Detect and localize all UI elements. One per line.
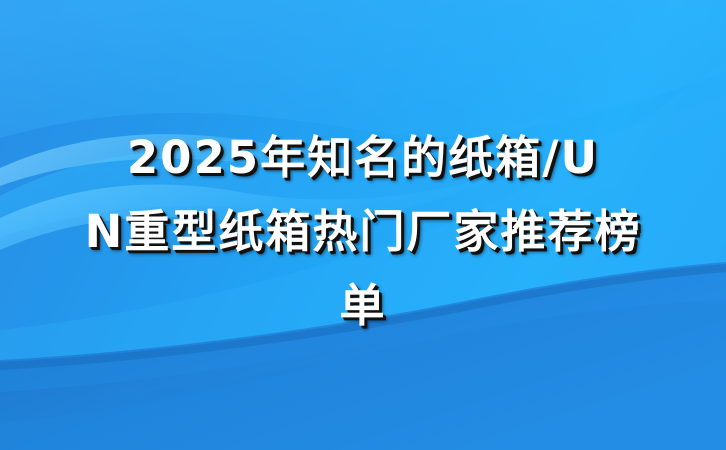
banner-title-block: 2025年知名的纸箱/U N重型纸箱热门厂家推荐榜 单: [0, 0, 726, 450]
title-line-1: 2025年知名的纸箱/U: [127, 121, 599, 195]
title-line-3: 单: [339, 269, 386, 343]
promo-title-banner: 2025年知名的纸箱/U N重型纸箱热门厂家推荐榜 单: [0, 0, 726, 450]
title-line-2: N重型纸箱热门厂家推荐榜: [85, 195, 642, 269]
